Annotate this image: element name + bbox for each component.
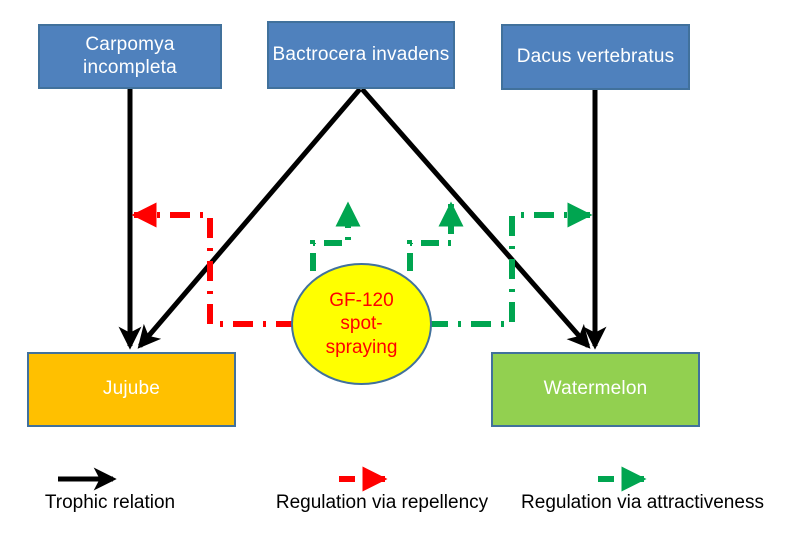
legend-swatch-repellency [247,466,517,492]
attractiveness-edge-gf120-bactrocera-watermelon [410,204,451,271]
node-label: GF-120 spot-spraying [309,289,414,359]
node-label: Watermelon [544,378,648,400]
node-gf120-spot-spraying[interactable]: GF-120 spot-spraying [291,263,432,385]
repellency-edge-gf120-carpomya-jujube [134,215,296,324]
node-dacus-vertebratus[interactable]: Dacus vertebratus [501,24,690,90]
attractiveness-edge-gf120-bactrocera-jujube [313,204,348,271]
node-watermelon[interactable]: Watermelon [491,352,700,427]
node-jujube[interactable]: Jujube [27,352,236,427]
legend-label-trophic: Trophic relation [10,492,210,514]
legend-label-attractiveness: Regulation via attractiveness [500,492,785,514]
legend-item-repellency: Regulation via repellency [247,466,517,514]
attractiveness-edge-gf120-dacus-watermelon [428,215,590,324]
legend-item-trophic: Trophic relation [10,466,210,514]
node-label: Carpomya incompleta [40,34,220,79]
node-label: Bactrocera invadens [272,44,449,66]
node-label: Jujube [103,378,160,400]
legend-label-repellency: Regulation via repellency [247,492,517,514]
legend-swatch-trophic [10,466,210,492]
node-carpomya-incompleta[interactable]: Carpomya incompleta [38,24,222,89]
diagram-canvas: Carpomya incompleta Bactrocera invadens … [0,0,787,538]
legend-swatch-attractiveness [500,466,785,492]
legend-item-attractiveness: Regulation via attractiveness [500,466,785,514]
node-bactrocera-invadens[interactable]: Bactrocera invadens [267,21,455,89]
node-label: Dacus vertebratus [517,46,675,68]
